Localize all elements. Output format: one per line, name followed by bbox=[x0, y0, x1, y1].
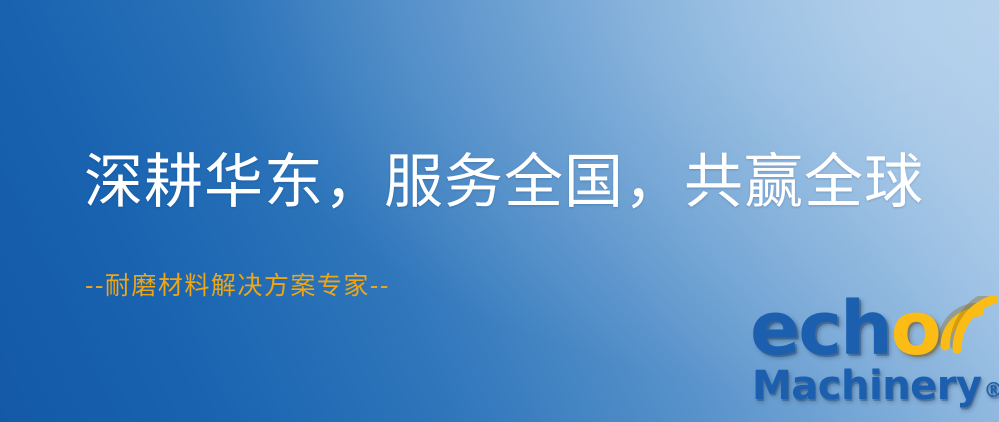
banner-headline: 深耕华东，服务全国，共赢全球 bbox=[84, 148, 924, 216]
logo-brand-text-yellow-o: o bbox=[891, 286, 940, 372]
logo-subbrand-label: Machinery bbox=[752, 363, 982, 409]
logo-subbrand-text: Machinery® bbox=[752, 366, 999, 406]
echo-signal-arcs-icon bbox=[935, 296, 997, 356]
promo-banner: 深耕华东，服务全国，共赢全球 --耐磨材料解决方案专家-- echo Machi… bbox=[0, 0, 999, 422]
banner-subtitle: --耐磨材料解决方案专家-- bbox=[85, 266, 390, 302]
logo-brand-text: echo bbox=[750, 292, 940, 366]
banner-content: 深耕华东，服务全国，共赢全球 --耐磨材料解决方案专家-- echo Machi… bbox=[0, 0, 999, 422]
logo-brand-text-blue: ech bbox=[750, 286, 891, 372]
echo-machinery-logo: echo Machinery® bbox=[748, 296, 999, 422]
registered-trademark-icon: ® bbox=[984, 378, 999, 402]
